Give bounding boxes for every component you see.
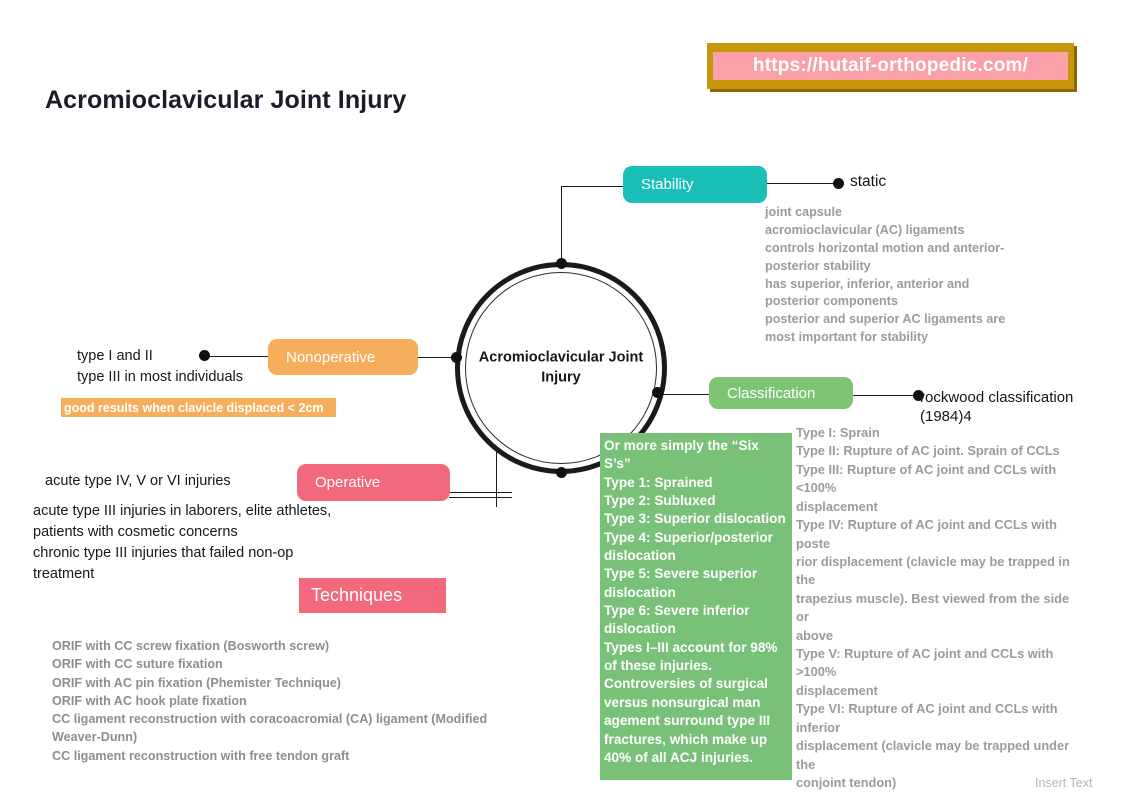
node-classification[interactable]: Classification xyxy=(709,377,853,409)
node-operative[interactable]: Operative xyxy=(297,464,450,501)
nonoperative-highlight-text: good results when clavicle displaced < 2… xyxy=(61,398,336,417)
leaf-dot-static xyxy=(833,178,844,189)
connector-central-operative-horizontal-bottom xyxy=(449,497,512,498)
connector-classification-rockwood xyxy=(853,395,918,396)
operative-additional-indications-text: acute type III injuries in laborers, eli… xyxy=(33,501,393,585)
insert-text-placeholder[interactable]: Insert Text xyxy=(1035,776,1092,790)
classification-details-text: Type I: Sprain Type II: Rupture of AC jo… xyxy=(796,424,1106,792)
anchor-dot-left xyxy=(451,352,462,363)
connector-central-stability-horizontal xyxy=(561,186,624,187)
site-url-banner[interactable]: https://hutaif-orthopedic.com/ xyxy=(707,43,1074,89)
node-classification-label: Classification xyxy=(727,385,815,402)
classification-six-s-box: Or more simply the “Six S’s” Type 1: Spr… xyxy=(600,433,792,780)
anchor-dot-right xyxy=(652,387,663,398)
nonoperative-indications-text: type I and II type III in most individua… xyxy=(77,346,277,388)
connector-stability-static xyxy=(767,183,833,184)
operative-primary-indication-text: acute type IV, V or VI injuries xyxy=(45,471,305,492)
site-url-banner-inner: https://hutaif-orthopedic.com/ xyxy=(713,52,1068,80)
anchor-dot-top xyxy=(556,258,567,269)
connector-central-stability-vertical xyxy=(561,186,562,268)
stability-details-text: joint capsule acromioclavicular (AC) lig… xyxy=(765,204,1110,347)
central-node-label: Acromioclavicular Joint Injury xyxy=(469,348,653,387)
page-title: Acromioclavicular Joint Injury xyxy=(45,86,406,115)
site-url-text: https://hutaif-orthopedic.com/ xyxy=(753,55,1028,77)
node-nonoperative-label: Nonoperative xyxy=(286,349,375,366)
node-operative-label: Operative xyxy=(315,474,380,491)
node-nonoperative[interactable]: Nonoperative xyxy=(268,339,418,375)
connector-central-operative-horizontal-top xyxy=(449,492,512,493)
stability-leaf-static-label: static xyxy=(850,173,886,191)
classification-leaf-rockwood-label: rockwood classification (1984)4 xyxy=(920,389,1073,427)
techniques-list-text: ORIF with CC screw fixation (Bosworth sc… xyxy=(52,637,542,765)
node-stability[interactable]: Stability xyxy=(623,166,767,203)
node-techniques-label: Techniques xyxy=(311,585,402,606)
anchor-dot-bottom xyxy=(556,467,567,478)
node-stability-label: Stability xyxy=(641,176,694,193)
